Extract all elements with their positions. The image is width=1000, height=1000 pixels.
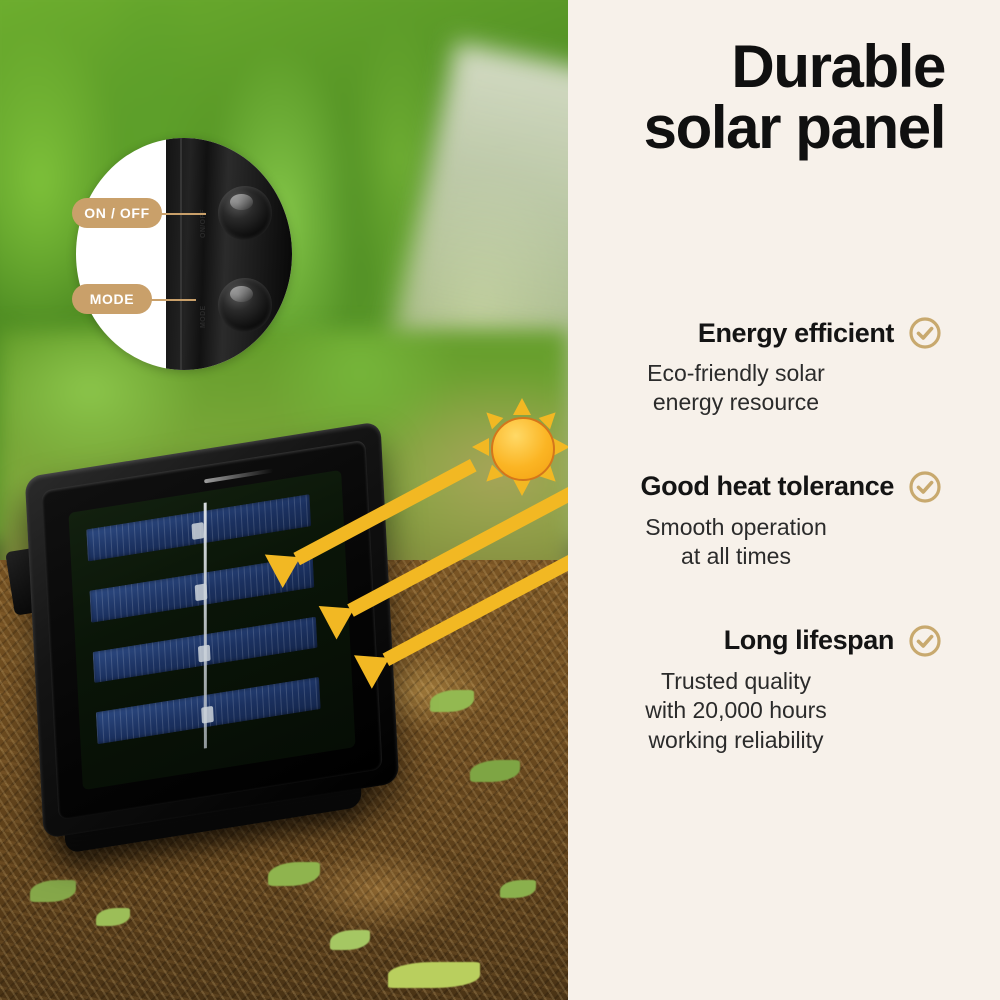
feature-item-long-lifespan: Long lifespan Trusted quality with 20,00…: [568, 624, 1000, 755]
feature-item-good-heat-tolerance: Good heat tolerance Smooth operation at …: [568, 470, 1000, 572]
callout-label-mode-text: MODE: [90, 291, 134, 307]
callout-label-onoff-text: ON / OFF: [84, 205, 149, 221]
info-panel: Durable solar panel Energy efficient Eco…: [568, 0, 1000, 1000]
panel-glass: [68, 470, 355, 790]
feature-list: Energy efficient Eco-friendly solar ener…: [568, 316, 1000, 801]
feature-heading: Energy efficient: [698, 318, 894, 349]
callout-leader-line-onoff: [160, 213, 206, 215]
callout-device-edge: [166, 138, 292, 370]
control-buttons-callout: ON/OFF MODE: [76, 138, 292, 370]
feature-heading: Good heat tolerance: [641, 471, 894, 502]
busbar-node: [201, 705, 214, 723]
product-photo: ON/OFF MODE ON / OFF MODE: [0, 0, 568, 1000]
sun-ray: [513, 479, 531, 496]
feature-heading: Long lifespan: [724, 625, 894, 656]
sun-icon: [478, 404, 564, 490]
check-circle-icon: [908, 316, 942, 350]
callout-leader-line-mode: [150, 299, 196, 301]
feature-description: Trusted quality with 20,000 hours workin…: [568, 667, 1000, 755]
sun-ray: [553, 438, 568, 456]
power-button[interactable]: [218, 186, 272, 240]
feature-desc-line: Trusted quality: [568, 667, 904, 696]
feature-item-energy-efficient: Energy efficient Eco-friendly solar ener…: [568, 316, 1000, 418]
feature-desc-line: working reliability: [568, 726, 904, 755]
feature-description: Eco-friendly solar energy resource: [568, 359, 1000, 418]
check-circle-icon: [908, 624, 942, 658]
sprout: [388, 962, 480, 988]
feature-desc-line: Smooth operation: [568, 513, 904, 542]
title-line-2: solar panel: [585, 97, 945, 158]
busbar-node: [191, 522, 204, 540]
product-feature-banner: ON/OFF MODE ON / OFF MODE Durable solar …: [0, 0, 1000, 1000]
page-title: Durable solar panel: [585, 36, 945, 158]
title-line-1: Durable: [585, 36, 945, 97]
mode-button[interactable]: [218, 278, 272, 332]
feature-description: Smooth operation at all times: [568, 513, 1000, 572]
feature-desc-line: with 20,000 hours: [568, 696, 904, 725]
check-circle-icon: [908, 470, 942, 504]
busbar-node: [195, 583, 208, 601]
feature-desc-line: Eco-friendly solar: [568, 359, 904, 388]
sun-ray: [472, 438, 489, 456]
feature-desc-line: at all times: [568, 542, 904, 571]
embossed-label-mode: MODE: [200, 305, 207, 328]
callout-label-onoff[interactable]: ON / OFF: [72, 198, 162, 228]
callout-device-seam: [180, 138, 182, 370]
feature-desc-line: energy resource: [568, 388, 904, 417]
busbar-node: [198, 644, 211, 662]
sun-disc: [491, 417, 555, 481]
sun-ray: [513, 398, 531, 415]
callout-label-mode[interactable]: MODE: [72, 284, 152, 314]
